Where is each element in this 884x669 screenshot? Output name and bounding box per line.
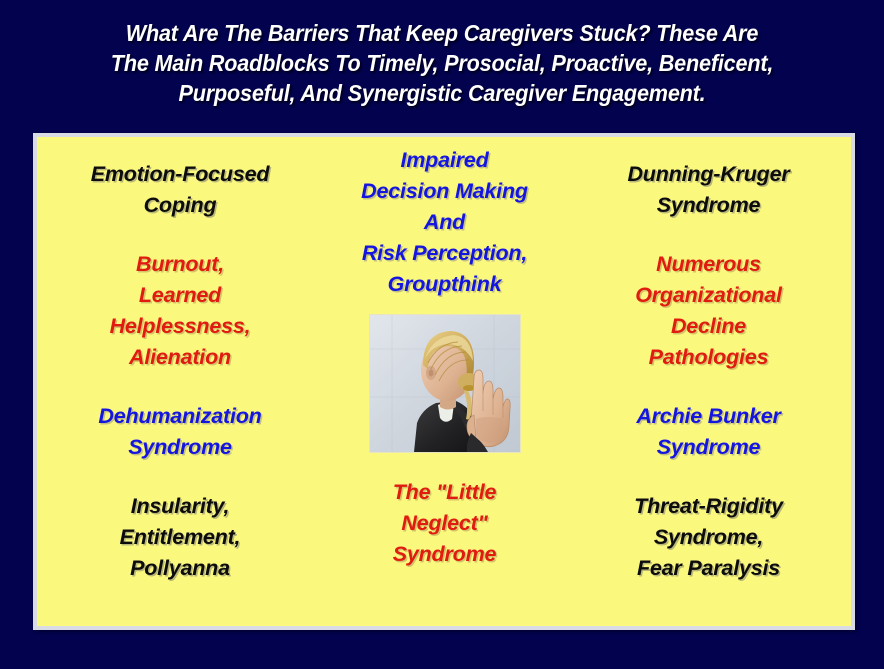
text-line: Syndrome — [566, 190, 851, 221]
right-block-dunning-kruger-syndrome: Dunning-Kruger Syndrome — [566, 159, 851, 221]
text-line: The "Little — [323, 477, 566, 508]
text-line: Threat-Rigidity — [566, 491, 851, 522]
woman-raised-hand-illustration — [370, 315, 520, 452]
text-line: Emotion-Focused — [37, 159, 323, 190]
left-block-dehumanization-syndrome: Dehumanization Syndrome — [37, 401, 323, 463]
spacer — [323, 300, 566, 314]
content-panel: Emotion-Focused Coping Burnout, Learned … — [33, 133, 855, 630]
spacer — [37, 463, 323, 491]
text-line: Groupthink — [323, 269, 566, 300]
right-block-archie-bunker-syndrome: Archie Bunker Syndrome — [566, 401, 851, 463]
middle-block-little-neglect-syndrome: The "Little Neglect" Syndrome — [323, 477, 566, 570]
text-line: Coping — [37, 190, 323, 221]
text-line: Dunning-Kruger — [566, 159, 851, 190]
text-line: Organizational — [566, 280, 851, 311]
text-line: Pollyanna — [37, 553, 323, 584]
left-block-insularity: Insularity, Entitlement, Pollyanna — [37, 491, 323, 584]
woman-raised-hand-photo — [369, 314, 521, 453]
text-line: Numerous — [566, 249, 851, 280]
text-line: Burnout, — [37, 249, 323, 280]
column-right: Dunning-Kruger Syndrome Numerous Organiz… — [566, 137, 851, 584]
title-line-2: The Main Roadblocks To Timely, Prosocial… — [53, 48, 831, 78]
text-line: Insularity, — [37, 491, 323, 522]
text-line: Syndrome — [566, 432, 851, 463]
spacer — [323, 453, 566, 477]
column-left: Emotion-Focused Coping Burnout, Learned … — [37, 137, 323, 584]
text-line: Decision Making — [323, 176, 566, 207]
middle-block-impaired-decision-making: Impaired Decision Making And Risk Percep… — [323, 145, 566, 300]
text-line: Learned — [37, 280, 323, 311]
right-block-threat-rigidity-syndrome: Threat-Rigidity Syndrome, Fear Paralysis — [566, 491, 851, 584]
content-panel-inner: Emotion-Focused Coping Burnout, Learned … — [37, 137, 851, 626]
text-line: Archie Bunker — [566, 401, 851, 432]
spacer — [37, 373, 323, 401]
text-line: Fear Paralysis — [566, 553, 851, 584]
text-line: Decline — [566, 311, 851, 342]
left-block-burnout: Burnout, Learned Helplessness, Alienatio… — [37, 249, 323, 373]
spacer — [37, 221, 323, 249]
title-line-1: What Are The Barriers That Keep Caregive… — [53, 18, 831, 48]
text-line: Helplessness, — [37, 311, 323, 342]
text-line: Alienation — [37, 342, 323, 373]
text-line: Syndrome — [37, 432, 323, 463]
text-line: Dehumanization — [37, 401, 323, 432]
right-block-organizational-decline: Numerous Organizational Decline Patholog… — [566, 249, 851, 373]
spacer — [566, 463, 851, 491]
text-line: Syndrome — [323, 539, 566, 570]
spacer — [566, 373, 851, 401]
text-line: Entitlement, — [37, 522, 323, 553]
column-middle: Impaired Decision Making And Risk Percep… — [323, 137, 566, 570]
text-line: Pathologies — [566, 342, 851, 373]
slide-canvas: What Are The Barriers That Keep Caregive… — [0, 0, 884, 669]
left-block-emotion-focused-coping: Emotion-Focused Coping — [37, 159, 323, 221]
slide-title: What Are The Barriers That Keep Caregive… — [0, 18, 884, 108]
text-line: Syndrome, — [566, 522, 851, 553]
text-line: Neglect" — [323, 508, 566, 539]
text-line: And — [323, 207, 566, 238]
title-line-3: Purposeful, And Synergistic Caregiver En… — [53, 78, 831, 108]
text-line: Risk Perception, — [323, 238, 566, 269]
text-line: Impaired — [323, 145, 566, 176]
spacer — [566, 221, 851, 249]
